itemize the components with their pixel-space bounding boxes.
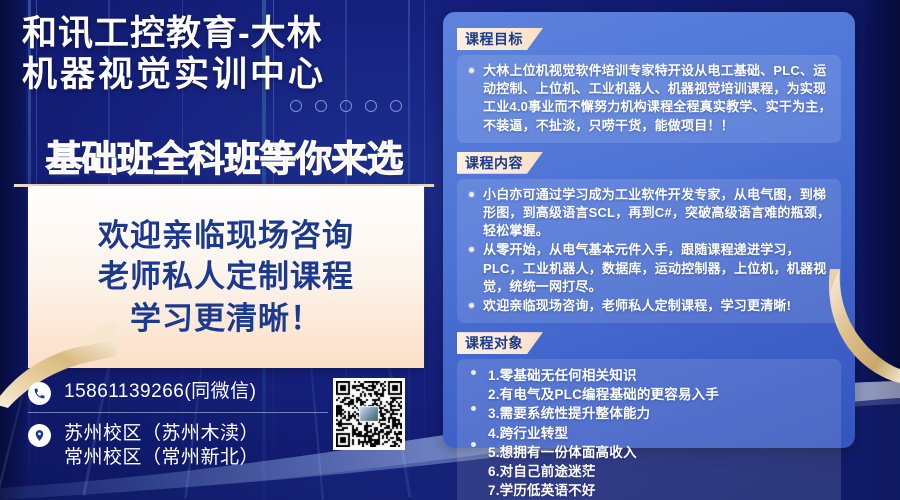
section-label: 课程目标 bbox=[457, 28, 543, 50]
section-label: 课程对象 bbox=[457, 332, 543, 354]
list-item: 5.想拥有一份体面高收入 bbox=[488, 443, 832, 462]
bullet-icon bbox=[471, 406, 476, 411]
list-item: 4.跨行业转型 bbox=[488, 424, 832, 443]
bullet-icon bbox=[471, 370, 476, 375]
section-label-wrap: 课程对象 bbox=[457, 332, 841, 354]
address-line-2: 常州校区（常州新北） bbox=[64, 446, 259, 470]
list-item: 大林上位机视觉软件培训专家特开设从电工基础、PLC、运动控制、上位机、工业机器人… bbox=[466, 62, 832, 135]
section-body: 1.零基础无任何相关知识2.有电气及PLC编程基础的更容易入手3.需要系统性提升… bbox=[457, 359, 841, 500]
notice-line-1: 欢迎亲临现场咨询 bbox=[98, 215, 354, 257]
address-row: 苏州校区（苏州木渎） 常州校区（常州新北） bbox=[28, 422, 338, 471]
panel-sections: 课程目标大林上位机视觉软件培训专家特开设从电工基础、PLC、运动控制、上位机、工… bbox=[457, 28, 841, 500]
notice-card-text: 欢迎亲临现场咨询 老师私人定制课程 学习更清晰！ bbox=[98, 215, 354, 340]
section-label-wrap: 课程目标 bbox=[457, 28, 841, 50]
course-info-panel: 课程目标大林上位机视觉软件培训专家特开设从电工基础、PLC、运动控制、上位机、工… bbox=[443, 12, 855, 448]
decorative-dots bbox=[290, 100, 402, 112]
list-item: 2.有电气及PLC编程基础的更容易入手 bbox=[488, 385, 832, 404]
sub-headline: 基础班全科班等你来选 bbox=[14, 130, 434, 187]
poster-canvas: 和讯工控教育-大林 机器视觉实训中心 基础班全科班等你来选 欢迎亲临现场咨询 老… bbox=[0, 0, 900, 500]
phone-row[interactable]: 15861139266(同微信) bbox=[28, 380, 338, 405]
notice-card: 欢迎亲临现场咨询 老师私人定制课程 学习更清晰！ bbox=[28, 186, 424, 368]
circle-icon bbox=[315, 100, 327, 112]
circle-icon bbox=[290, 100, 302, 112]
list-item: 6.对自己前途迷茫 bbox=[488, 462, 832, 481]
location-pin-icon bbox=[28, 424, 51, 447]
address-text: 苏州校区（苏州木渎） 常州校区（常州新北） bbox=[64, 422, 259, 471]
section-body: 大林上位机视觉软件培训专家特开设从电工基础、PLC、运动控制、上位机、工业机器人… bbox=[457, 55, 841, 143]
panel-section: 课程对象1.零基础无任何相关知识2.有电气及PLC编程基础的更容易入手3.需要系… bbox=[457, 332, 841, 500]
circle-icon bbox=[365, 100, 377, 112]
list-item: 欢迎亲临现场咨询，老师私人定制课程，学习更清晰! bbox=[466, 297, 832, 315]
section-body: 小白亦可通过学习成为工业软件开发专家，从电气图，到梯形图，到高级语言SCL，再到… bbox=[457, 179, 841, 323]
headline-line-2: 机器视觉实训中心 bbox=[22, 55, 422, 96]
contact-block: 15861139266(同微信) 苏州校区（苏州木渎） 常州校区（常州新北） bbox=[28, 380, 338, 471]
bullet-icon bbox=[471, 442, 476, 447]
section-label: 课程内容 bbox=[457, 152, 543, 174]
numbered-list: 1.零基础无任何相关知识2.有电气及PLC编程基础的更容易入手3.需要系统性提升… bbox=[466, 366, 832, 500]
circle-icon bbox=[390, 100, 402, 112]
section-label-wrap: 课程内容 bbox=[457, 152, 841, 174]
notice-line-3: 学习更清晰！ bbox=[98, 298, 354, 340]
notice-line-2: 老师私人定制课程 bbox=[98, 256, 354, 298]
list-item: 1.零基础无任何相关知识 bbox=[488, 366, 832, 385]
headline-line-1: 和讯工控教育-大林 bbox=[22, 14, 422, 55]
phone-number: 15861139266(同微信) bbox=[64, 380, 256, 404]
contact-divider bbox=[28, 412, 328, 413]
address-line-1: 苏州校区（苏州木渎） bbox=[64, 422, 259, 446]
list-item: 小白亦可通过学习成为工业软件开发专家，从电气图，到梯形图，到高级语言SCL，再到… bbox=[466, 186, 832, 241]
list-item: 从零开始，从电气基本元件入手，跟随课程递进学习，PLC，工业机器人，数据库，运动… bbox=[466, 241, 832, 296]
panel-section: 课程内容小白亦可通过学习成为工业软件开发专家，从电气图，到梯形图，到高级语言SC… bbox=[457, 152, 841, 323]
left-column: 和讯工控教育-大林 机器视觉实训中心 基础班全科班等你来选 欢迎亲临现场咨询 老… bbox=[0, 0, 440, 500]
phone-icon bbox=[28, 382, 51, 405]
panel-section: 课程目标大林上位机视觉软件培训专家特开设从电工基础、PLC、运动控制、上位机、工… bbox=[457, 28, 841, 143]
list-item: 3.需要系统性提升整体能力 bbox=[488, 404, 832, 423]
list-item: 7.学历低英语不好 bbox=[488, 481, 832, 500]
page-title: 和讯工控教育-大林 机器视觉实训中心 bbox=[22, 14, 422, 95]
circle-icon bbox=[340, 100, 352, 112]
qr-code[interactable] bbox=[333, 378, 405, 450]
